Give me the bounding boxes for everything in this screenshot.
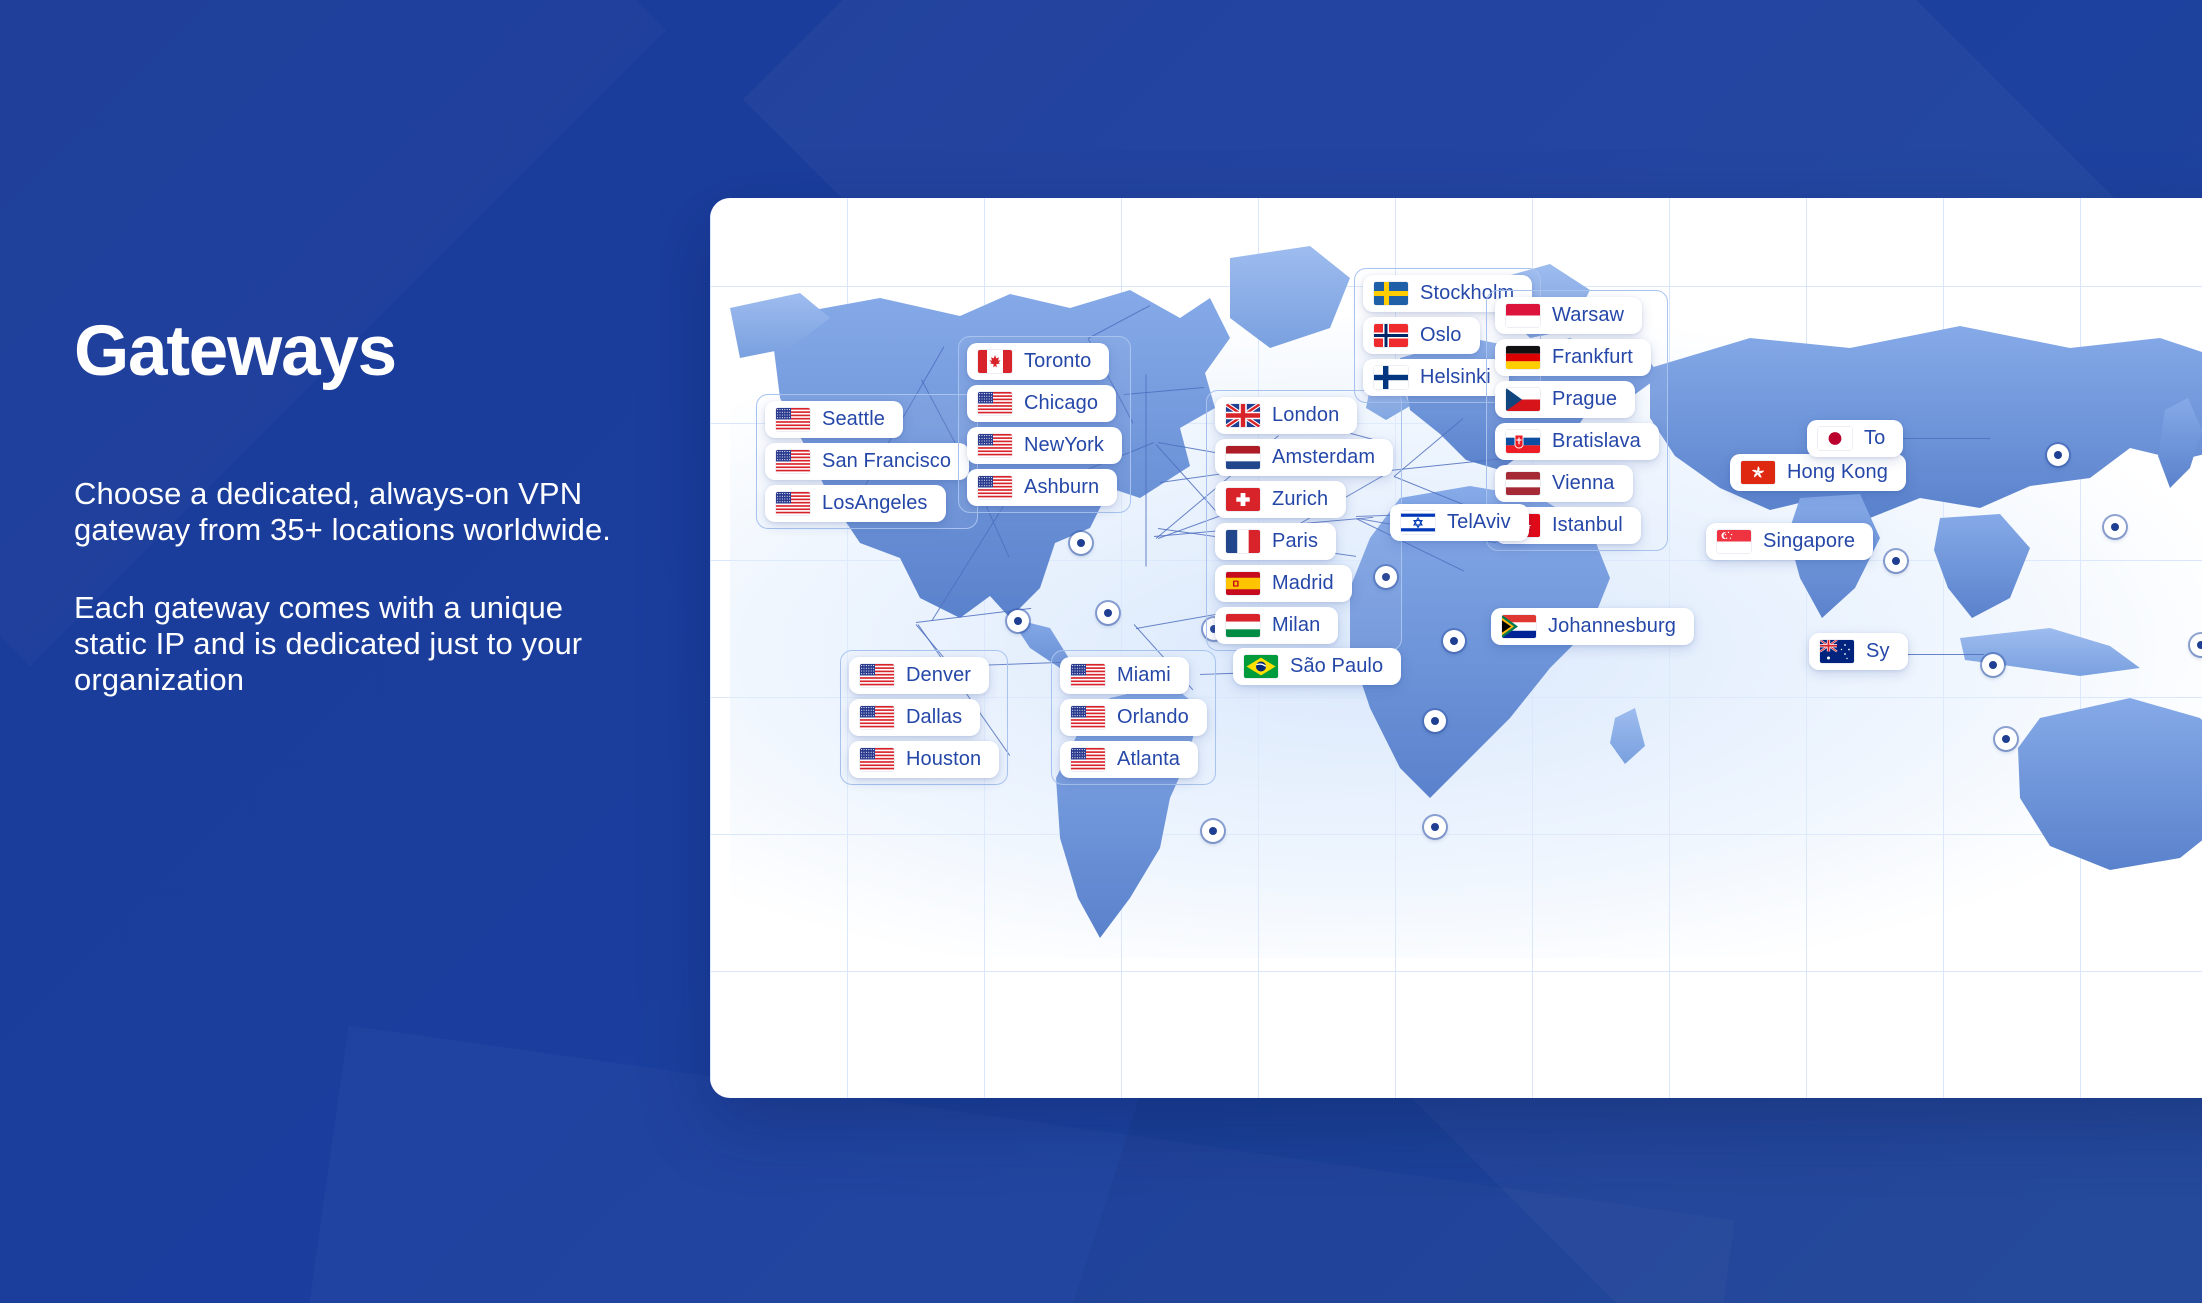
gateway-pill-orlando[interactable]: Orlando xyxy=(1060,699,1207,736)
flag-icon-us xyxy=(776,492,810,515)
gateway-pill-losangeles[interactable]: LosAngeles xyxy=(765,485,946,522)
map-node-dot[interactable] xyxy=(2047,444,2069,466)
gateway-pill-label: Ashburn xyxy=(1024,476,1099,499)
gateway-pill-label: San Francisco xyxy=(822,450,951,473)
gateway-pill-label: To xyxy=(1864,427,1885,450)
hero-paragraph-2: Each gateway comes with a unique static … xyxy=(74,590,634,698)
map-node-dot[interactable] xyxy=(1424,710,1446,732)
connector-line xyxy=(1146,375,1147,471)
connector-line xyxy=(1146,471,1147,567)
flag-icon-au xyxy=(1820,640,1854,663)
map-node-dot[interactable] xyxy=(1424,816,1446,838)
gateway-pill-label: Frankfurt xyxy=(1552,346,1633,369)
flag-icon-br xyxy=(1244,655,1278,678)
gateway-pill-label: Madrid xyxy=(1272,572,1334,595)
gateway-pill-label: Istanbul xyxy=(1552,514,1623,537)
gateway-pill-singapore[interactable]: Singapore xyxy=(1706,523,1873,560)
flag-icon-it xyxy=(1226,614,1260,637)
gateway-pill-label: Warsaw xyxy=(1552,304,1624,327)
flag-icon-us xyxy=(1071,706,1105,729)
gateway-pill-seattle[interactable]: Seattle xyxy=(765,401,903,438)
gateway-pill-to[interactable]: To xyxy=(1807,420,1903,457)
map-node-dot[interactable] xyxy=(1982,654,2004,676)
map-node-dot[interactable] xyxy=(2104,516,2126,538)
gateway-pill-label: Denver xyxy=(906,664,971,687)
gateway-pill-label: Paris xyxy=(1272,530,1318,553)
gateway-pill-oslo[interactable]: Oslo xyxy=(1363,317,1480,354)
gateway-pill-label: TelAviv xyxy=(1447,511,1511,534)
gateway-pill-frankfurt[interactable]: Frankfurt xyxy=(1495,339,1651,376)
gateway-pill-miami[interactable]: Miami xyxy=(1060,657,1189,694)
flag-icon-us xyxy=(860,664,894,687)
gateway-pill-label: Houston xyxy=(906,748,981,771)
europe-west-cluster: LondonAmsterdamZurichParisMadridMilan xyxy=(1206,390,1402,651)
gateway-pill-telaviv[interactable]: TelAviv xyxy=(1390,504,1529,541)
flag-icon-de xyxy=(1506,346,1540,369)
us-southeast-cluster: Miami Orlando Atlanta xyxy=(1051,650,1216,785)
gateway-pill-london[interactable]: London xyxy=(1215,397,1357,434)
gateway-pill-denver[interactable]: Denver xyxy=(849,657,989,694)
gateway-pill-s-o-paulo[interactable]: São Paulo xyxy=(1233,648,1401,685)
gateway-map-panel: Seattle San Francisco LosAngeles Toronto… xyxy=(710,198,2202,1098)
map-node-dot[interactable] xyxy=(1202,820,1224,842)
flag-icon-nl xyxy=(1226,446,1260,469)
gateway-pill-label: Prague xyxy=(1552,388,1617,411)
gateway-pill-label: Sy xyxy=(1866,640,1890,663)
flag-icon-fr xyxy=(1226,530,1260,553)
map-node-dot[interactable] xyxy=(1885,550,1907,572)
gateway-pill-san-francisco[interactable]: San Francisco xyxy=(765,443,969,480)
gateway-pill-zurich[interactable]: Zurich xyxy=(1215,481,1346,518)
gateway-pill-label: Milan xyxy=(1272,614,1320,637)
gateway-pill-bratislava[interactable]: Bratislava xyxy=(1495,423,1659,460)
us-central-cluster: Denver Dallas Houston xyxy=(840,650,1008,785)
flag-icon-fi xyxy=(1374,366,1408,389)
flag-icon-us xyxy=(776,450,810,473)
flag-icon-sk xyxy=(1506,430,1540,453)
north-america-east-cluster: Toronto Chicago NewYork Ashburn xyxy=(958,336,1131,513)
flag-icon-no xyxy=(1374,324,1408,347)
flag-icon-us xyxy=(978,476,1012,499)
flag-icon-il xyxy=(1401,511,1435,534)
gateway-pill-label: Atlanta xyxy=(1117,748,1180,771)
gateway-pill-paris[interactable]: Paris xyxy=(1215,523,1336,560)
gateway-pill-milan[interactable]: Milan xyxy=(1215,607,1338,644)
gateway-pill-label: Zurich xyxy=(1272,488,1328,511)
gateway-pill-label: Johannesburg xyxy=(1548,615,1676,638)
flag-icon-at xyxy=(1506,472,1540,495)
hero-copy: Gateways Choose a dedicated, always-on V… xyxy=(74,315,634,741)
gateway-pill-warsaw[interactable]: Warsaw xyxy=(1495,297,1642,334)
connector-line xyxy=(1896,654,1984,655)
gateway-pill-label: Seattle xyxy=(822,408,885,431)
flag-icon-sg xyxy=(1717,530,1751,553)
map-node-dot[interactable] xyxy=(1007,610,1029,632)
gateway-pill-label: Hong Kong xyxy=(1787,461,1888,484)
gateway-pill-label: Amsterdam xyxy=(1272,446,1375,469)
page-title: Gateways xyxy=(74,315,634,390)
flag-icon-jp xyxy=(1818,427,1852,450)
gateway-pill-label: Vienna xyxy=(1552,472,1615,495)
map-canvas: Seattle San Francisco LosAngeles Toronto… xyxy=(710,198,2202,1098)
map-node-dot[interactable] xyxy=(1443,630,1465,652)
gateway-pill-dallas[interactable]: Dallas xyxy=(849,699,980,736)
flag-icon-se xyxy=(1374,282,1408,305)
gateway-pill-label: Helsinki xyxy=(1420,366,1491,389)
gateway-pill-johannesburg[interactable]: Johannesburg xyxy=(1491,608,1694,645)
hero-paragraph-1: Choose a dedicated, always-on VPN gatewa… xyxy=(74,476,634,548)
gateway-pill-label: Singapore xyxy=(1763,530,1855,553)
flag-icon-us xyxy=(978,434,1012,457)
gateway-pill-toronto[interactable]: Toronto xyxy=(967,343,1109,380)
gateway-pill-hong-kong[interactable]: Hong Kong xyxy=(1730,454,1906,491)
gateway-pill-label: São Paulo xyxy=(1290,655,1383,678)
flag-icon-ca xyxy=(978,350,1012,373)
gateway-pill-label: Miami xyxy=(1117,664,1171,687)
flag-icon-cz xyxy=(1506,388,1540,411)
flag-icon-ch xyxy=(1226,488,1260,511)
us-west-cluster: Seattle San Francisco LosAngeles xyxy=(756,394,978,529)
gateway-pill-label: Orlando xyxy=(1117,706,1189,729)
gateway-pill-label: Chicago xyxy=(1024,392,1098,415)
gateway-pill-prague[interactable]: Prague xyxy=(1495,381,1635,418)
map-node-dot[interactable] xyxy=(1070,532,1092,554)
flag-icon-us xyxy=(1071,748,1105,771)
flag-icon-pl xyxy=(1506,304,1540,327)
gateway-pill-label: LosAngeles xyxy=(822,492,928,515)
flag-icon-us xyxy=(860,748,894,771)
map-node-dot[interactable] xyxy=(1995,728,2017,750)
gateway-pill-houston[interactable]: Houston xyxy=(849,741,999,778)
flag-icon-us xyxy=(978,392,1012,415)
gateway-pill-label: Bratislava xyxy=(1552,430,1641,453)
gateway-pill-madrid[interactable]: Madrid xyxy=(1215,565,1352,602)
gateway-pill-sy[interactable]: Sy xyxy=(1809,633,1908,670)
flag-icon-us xyxy=(1071,664,1105,687)
gateway-pill-chicago[interactable]: Chicago xyxy=(967,385,1116,422)
gateway-pill-amsterdam[interactable]: Amsterdam xyxy=(1215,439,1393,476)
flag-icon-gb xyxy=(1226,404,1260,427)
gateway-pill-atlanta[interactable]: Atlanta xyxy=(1060,741,1198,778)
map-node-dot[interactable] xyxy=(1097,602,1119,624)
flag-icon-hk xyxy=(1741,461,1775,484)
flag-icon-es xyxy=(1226,572,1260,595)
gateway-pill-label: Toronto xyxy=(1024,350,1091,373)
gateway-pill-label: London xyxy=(1272,404,1339,427)
flag-icon-us xyxy=(776,408,810,431)
flag-icon-us xyxy=(860,706,894,729)
gateway-pill-label: Oslo xyxy=(1420,324,1462,347)
gateway-pill-vienna[interactable]: Vienna xyxy=(1495,465,1633,502)
gateway-pill-ashburn[interactable]: Ashburn xyxy=(967,469,1117,506)
gateway-pill-label: NewYork xyxy=(1024,434,1104,457)
flag-icon-za xyxy=(1502,615,1536,638)
gateway-pill-newyork[interactable]: NewYork xyxy=(967,427,1122,464)
gateway-pill-label: Dallas xyxy=(906,706,962,729)
